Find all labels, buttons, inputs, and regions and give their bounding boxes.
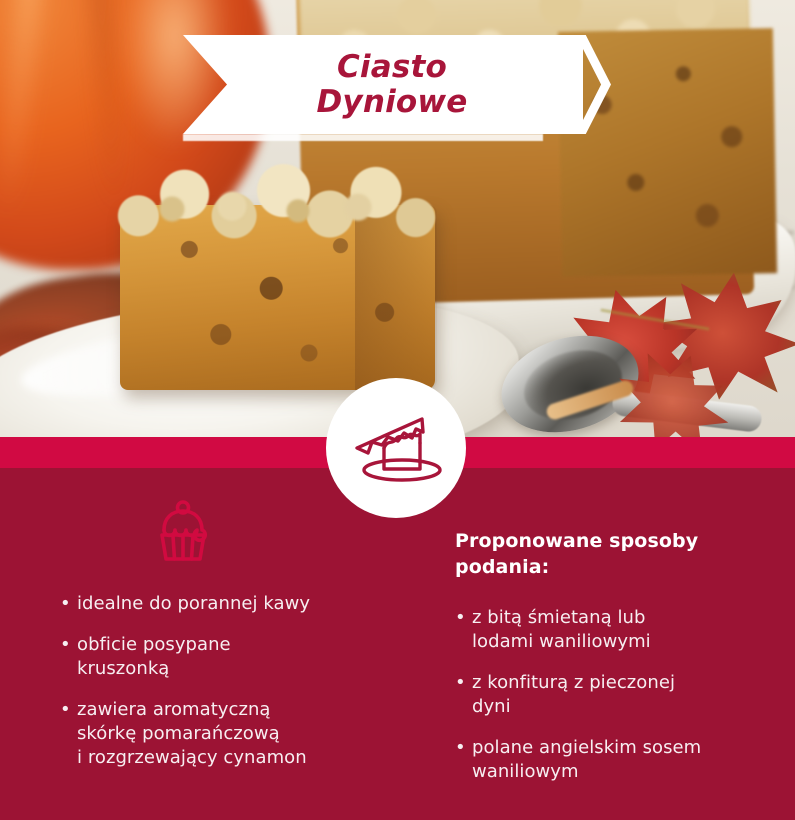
list-item: idealne do porannej kawy (60, 592, 440, 616)
features-list: idealne do porannej kawy obficie posypan… (60, 592, 440, 770)
list-item: z bitą śmietaną lub lodami waniliowymi (455, 606, 775, 654)
list-item: polane angielskim sosem waniliowym (455, 736, 775, 784)
info-content: idealne do porannej kawy obficie posypan… (0, 468, 795, 820)
recipe-infographic: Ciasto Dyniowe (0, 0, 795, 820)
list-item: obficie posypane kruszonką (60, 633, 440, 681)
serving-suggestions-list: z bitą śmietaną lub lodami waniliowymi z… (455, 606, 775, 784)
serving-suggestions-heading: Proponowane sposoby podania: (455, 528, 775, 580)
cake-loaf-cut-face (558, 28, 777, 277)
serving-suggestions-column: Proponowane sposoby podania: z bitą śmie… (455, 528, 775, 801)
cake-slice-crumble-detail (130, 186, 430, 232)
list-item: zawiera aromatyczną skórkę pomarańczową … (60, 698, 440, 770)
ribbon-fold (183, 134, 543, 141)
cupcake-icon (155, 500, 440, 566)
list-item: z konfiturą z pieczonej dyni (455, 671, 775, 719)
features-column: idealne do porannej kawy obficie posypan… (60, 500, 440, 787)
